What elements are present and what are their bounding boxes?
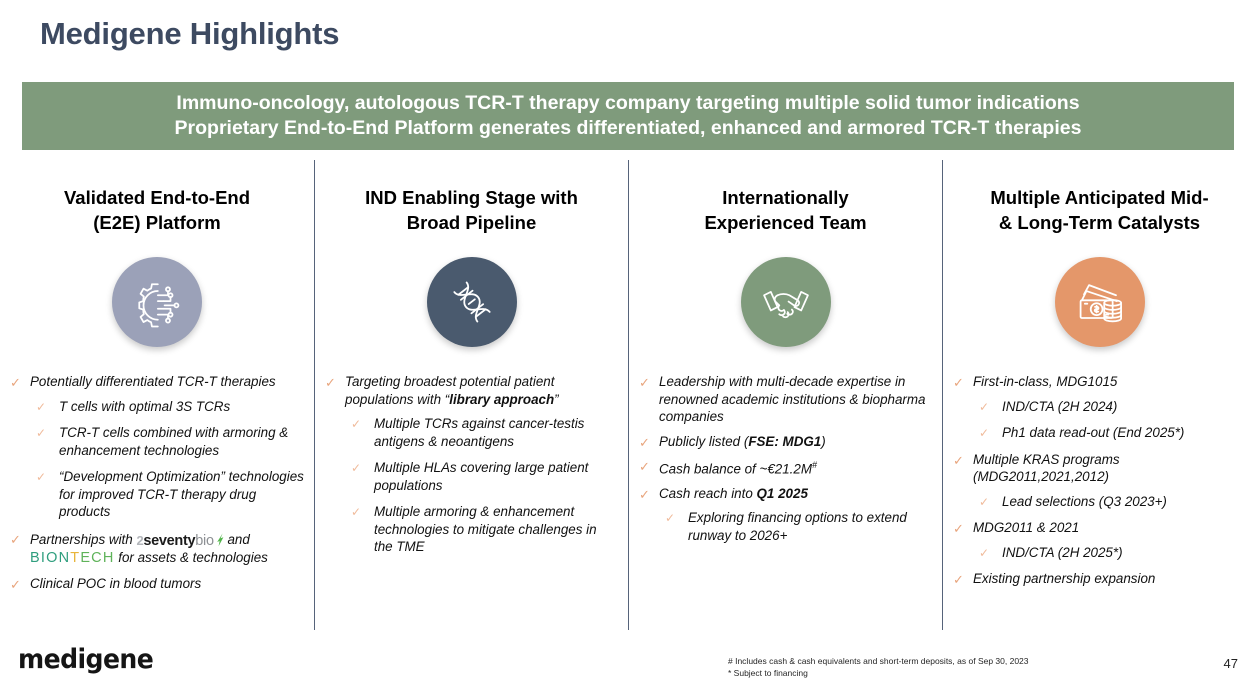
list-item: ✓ Lead selections (Q3 2023+)	[953, 493, 1246, 511]
list-item: ✓ “Development Optimization” technologie…	[10, 468, 304, 521]
column-3-title-line-2: Experienced Team	[704, 212, 866, 233]
column-1-title-line-1: Validated End-to-End	[64, 187, 250, 208]
check-icon: ✓	[351, 416, 366, 433]
column-2-title-line-1: IND Enabling Stage with	[365, 187, 578, 208]
check-icon: ✓	[36, 469, 51, 486]
bullet-text: Multiple HLAs covering large patient pop…	[374, 459, 618, 494]
highlight-columns: Validated End-to-End (E2E) Platform	[0, 160, 1256, 630]
handshake-icon	[741, 257, 831, 347]
check-icon: ✓	[10, 374, 25, 391]
partnership-prefix: Partnerships with	[30, 532, 136, 547]
column-1-title-line-2: (E2E) Platform	[93, 212, 220, 233]
footnote-1: # Includes cash & cash equivalents and s…	[728, 655, 1029, 667]
bullet-text: Potentially differentiated TCR-T therapi…	[30, 373, 276, 391]
bullet-text: Clinical POC in blood tumors	[30, 575, 201, 593]
partnership-middle: and	[224, 532, 250, 547]
page-title: Medigene Highlights	[40, 16, 339, 52]
check-icon: ✓	[953, 452, 968, 469]
bullet-text: IND/CTA (2H 2024)	[1002, 398, 1117, 416]
bullet-emphasis: Q1 2025	[757, 486, 808, 501]
list-item: ✓ Publicly listed (FSE: MDG1)	[639, 433, 932, 451]
check-icon: ✓	[953, 374, 968, 391]
list-item: ✓ Cash reach into Q1 2025	[639, 485, 932, 503]
banner-line-2: Proprietary End-to-End Platform generate…	[175, 116, 1082, 141]
column-2-icon-wrap	[325, 257, 618, 347]
bullet-text: T cells with optimal 3S TCRs	[59, 398, 230, 416]
list-item: ✓ Existing partnership expansion	[953, 570, 1246, 588]
bullet-emphasis: FSE: MDG1	[748, 434, 821, 449]
column-3-title-line-1: Internationally	[722, 187, 848, 208]
check-icon: ✓	[639, 486, 654, 503]
list-item: ✓ T cells with optimal 3S TCRs	[10, 398, 304, 416]
bullet-text: Existing partnership expansion	[973, 570, 1155, 588]
twoseventybio-logo: 2seventybio	[136, 531, 223, 551]
column-experienced-team: Internationally Experienced Team ✓	[628, 160, 942, 630]
biontech-logo: BIONTECH	[30, 550, 115, 568]
column-3-bullets: ✓ Leadership with multi-decade expertise…	[639, 373, 932, 544]
column-4-icon-wrap	[953, 257, 1246, 347]
column-2-title-line-2: Broad Pipeline	[407, 212, 537, 233]
highlight-banner: Immuno-oncology, autologous TCR-T therap…	[22, 82, 1234, 150]
column-4-title-line-2: & Long-Term Catalysts	[999, 212, 1200, 233]
bullet-text: IND/CTA (2H 2025*)	[1002, 544, 1123, 562]
column-3-title: Internationally Experienced Team	[639, 185, 932, 235]
check-icon: ✓	[10, 531, 25, 548]
list-item-partnerships: ✓ Partnerships with 2seventybio and BION…	[10, 530, 304, 568]
list-item: ✓ TCR-T cells combined with armoring & e…	[10, 424, 304, 459]
check-icon: ✓	[953, 520, 968, 537]
check-icon: ✓	[36, 399, 51, 416]
bullet-text: Multiple TCRs against cancer-testis anti…	[374, 415, 618, 450]
list-item: ✓ First-in-class, MDG1015	[953, 373, 1246, 391]
column-2-bullets: ✓ Targeting broadest potential patient p…	[325, 373, 618, 556]
check-icon: ✓	[325, 374, 340, 391]
column-1-icon-wrap	[10, 257, 304, 347]
list-item: ✓ IND/CTA (2H 2024)	[953, 398, 1246, 416]
column-4-title-line-1: Multiple Anticipated Mid-	[990, 187, 1208, 208]
list-item: ✓ Multiple KRAS programs (MDG2011,2021,2…	[953, 451, 1246, 486]
check-icon: ✓	[953, 571, 968, 588]
column-4-title: Multiple Anticipated Mid- & Long-Term Ca…	[953, 185, 1246, 235]
bullet-text: Partnerships with 2seventybio and BIONTE…	[30, 530, 304, 568]
bullet-text: Cash reach into Q1 2025	[659, 485, 808, 503]
medigene-footer-logo: medigene	[18, 644, 153, 675]
check-icon: ✓	[351, 460, 366, 477]
column-1-bullets: ✓ Potentially differentiated TCR-T thera…	[10, 373, 304, 592]
check-icon: ✓	[351, 504, 366, 521]
list-item: ✓ Clinical POC in blood tumors	[10, 575, 304, 593]
bullet-emphasis: library approach	[449, 392, 554, 407]
swoosh-icon	[213, 533, 224, 547]
footnotes: # Includes cash & cash equivalents and s…	[728, 655, 1029, 679]
check-icon: ✓	[639, 434, 654, 451]
banner-line-1: Immuno-oncology, autologous TCR-T therap…	[176, 91, 1079, 116]
bullet-text: Targeting broadest potential patient pop…	[345, 373, 618, 408]
bullet-text: Cash balance of ~€21.2M#	[659, 457, 817, 478]
check-icon: ✓	[979, 494, 994, 511]
check-icon: ✓	[979, 425, 994, 442]
bullet-text: MDG2011 & 2021	[973, 519, 1079, 537]
footnote-2: * Subject to financing	[728, 667, 1029, 679]
list-item: ✓ Ph1 data read-out (End 2025*)	[953, 424, 1246, 442]
bullet-text: TCR-T cells combined with armoring & enh…	[59, 424, 304, 459]
list-item: ✓ Multiple armoring & enhancement techno…	[325, 503, 618, 556]
column-ind-enabling-pipeline: IND Enabling Stage with Broad Pipeline ✓	[314, 160, 628, 630]
list-item: ✓ IND/CTA (2H 2025*)	[953, 544, 1246, 562]
list-item: ✓ Exploring financing options to extend …	[639, 509, 932, 544]
list-item: ✓ Targeting broadest potential patient p…	[325, 373, 618, 408]
check-icon: ✓	[979, 545, 994, 562]
bullet-text: Multiple KRAS programs (MDG2011,2021,201…	[973, 451, 1246, 486]
column-4-bullets: ✓ First-in-class, MDG1015 ✓ IND/CTA (2H …	[953, 373, 1246, 588]
check-icon: ✓	[639, 374, 654, 391]
bullet-text: “Development Optimization” technologies …	[59, 468, 304, 521]
gear-circuit-icon	[112, 257, 202, 347]
column-3-icon-wrap	[639, 257, 932, 347]
list-item: ✓ Cash balance of ~€21.2M#	[639, 457, 932, 478]
column-validated-platform: Validated End-to-End (E2E) Platform	[0, 160, 314, 630]
check-icon: ✓	[36, 425, 51, 442]
bullet-text: Lead selections (Q3 2023+)	[1002, 493, 1167, 511]
bullet-text: Exploring financing options to extend ru…	[688, 509, 932, 544]
cash-money-icon	[1055, 257, 1145, 347]
column-2-title: IND Enabling Stage with Broad Pipeline	[325, 185, 618, 235]
list-item: ✓ Potentially differentiated TCR-T thera…	[10, 373, 304, 391]
bullet-text: Leadership with multi-decade expertise i…	[659, 373, 932, 426]
bullet-text: Multiple armoring & enhancement technolo…	[374, 503, 618, 556]
bullet-text: Publicly listed (FSE: MDG1)	[659, 433, 826, 451]
page-number: 47	[1224, 656, 1238, 671]
bullet-text: Ph1 data read-out (End 2025*)	[1002, 424, 1184, 442]
check-icon: ✓	[10, 576, 25, 593]
dna-helix-icon	[427, 257, 517, 347]
footnote-marker-hash: #	[812, 460, 817, 470]
check-icon: ✓	[665, 510, 680, 527]
column-1-title: Validated End-to-End (E2E) Platform	[10, 185, 304, 235]
list-item: ✓ Multiple TCRs against cancer-testis an…	[325, 415, 618, 450]
check-icon: ✓	[979, 399, 994, 416]
bullet-text: First-in-class, MDG1015	[973, 373, 1117, 391]
list-item: ✓ MDG2011 & 2021	[953, 519, 1246, 537]
partnership-suffix: for assets & technologies	[115, 550, 268, 565]
list-item: ✓ Leadership with multi-decade expertise…	[639, 373, 932, 426]
column-anticipated-catalysts: Multiple Anticipated Mid- & Long-Term Ca…	[942, 160, 1256, 630]
check-icon: ✓	[639, 458, 654, 475]
list-item: ✓ Multiple HLAs covering large patient p…	[325, 459, 618, 494]
